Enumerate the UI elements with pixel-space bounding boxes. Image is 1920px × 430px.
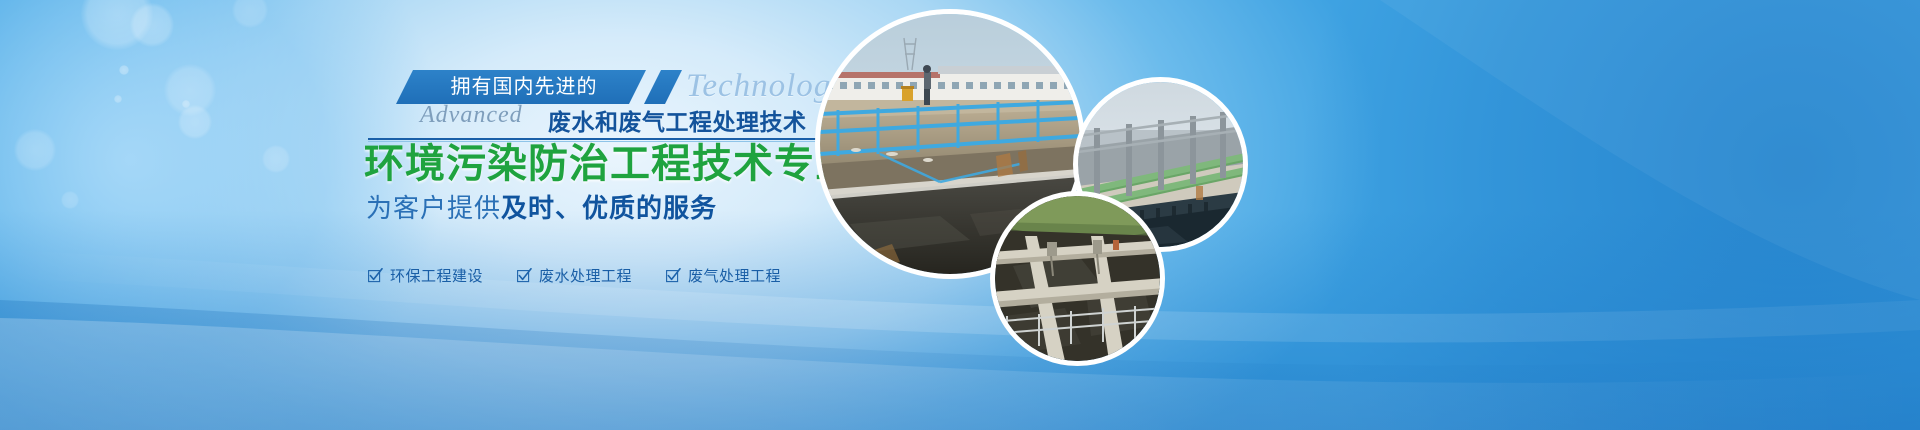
- tagline-row: 拥有国内先进的 Technology: [368, 70, 838, 106]
- sub-headline-soft: 为客户提供: [366, 193, 501, 223]
- feature-item-label: 废水处理工程: [539, 265, 632, 286]
- feature-item[interactable]: 环保工程建设: [368, 265, 483, 286]
- feature-item-label: 废气处理工程: [688, 265, 781, 286]
- secondary-headline-label: 废水和废气工程处理技术: [548, 103, 807, 137]
- advanced-word: Advanced: [420, 102, 523, 129]
- check-box-icon: [517, 268, 532, 283]
- check-box-icon: [368, 268, 383, 283]
- sub-headline-strong: 及时、优质的服务: [501, 193, 717, 223]
- feature-item-label: 环保工程建设: [390, 265, 483, 286]
- hero-banner: 拥有国内先进的 Technology Advanced 废水和废气工程处理技术 …: [0, 0, 1920, 430]
- feature-item[interactable]: 废水处理工程: [517, 265, 632, 286]
- photo-cluster: [800, 0, 1400, 430]
- feature-list: 环保工程建设废水处理工程废气处理工程: [368, 262, 848, 288]
- copy-block: 拥有国内先进的 Technology Advanced 废水和废气工程处理技术 …: [0, 0, 860, 430]
- feature-item[interactable]: 废气处理工程: [666, 265, 781, 286]
- tagline-badge-label: 拥有国内先进的: [410, 70, 638, 104]
- tagline-badge-arrow: [644, 70, 682, 104]
- secondary-headline-row: Advanced 废水和废气工程处理技术: [368, 102, 838, 134]
- aeration-basin-photo: [995, 196, 1160, 361]
- check-box-icon: [666, 268, 681, 283]
